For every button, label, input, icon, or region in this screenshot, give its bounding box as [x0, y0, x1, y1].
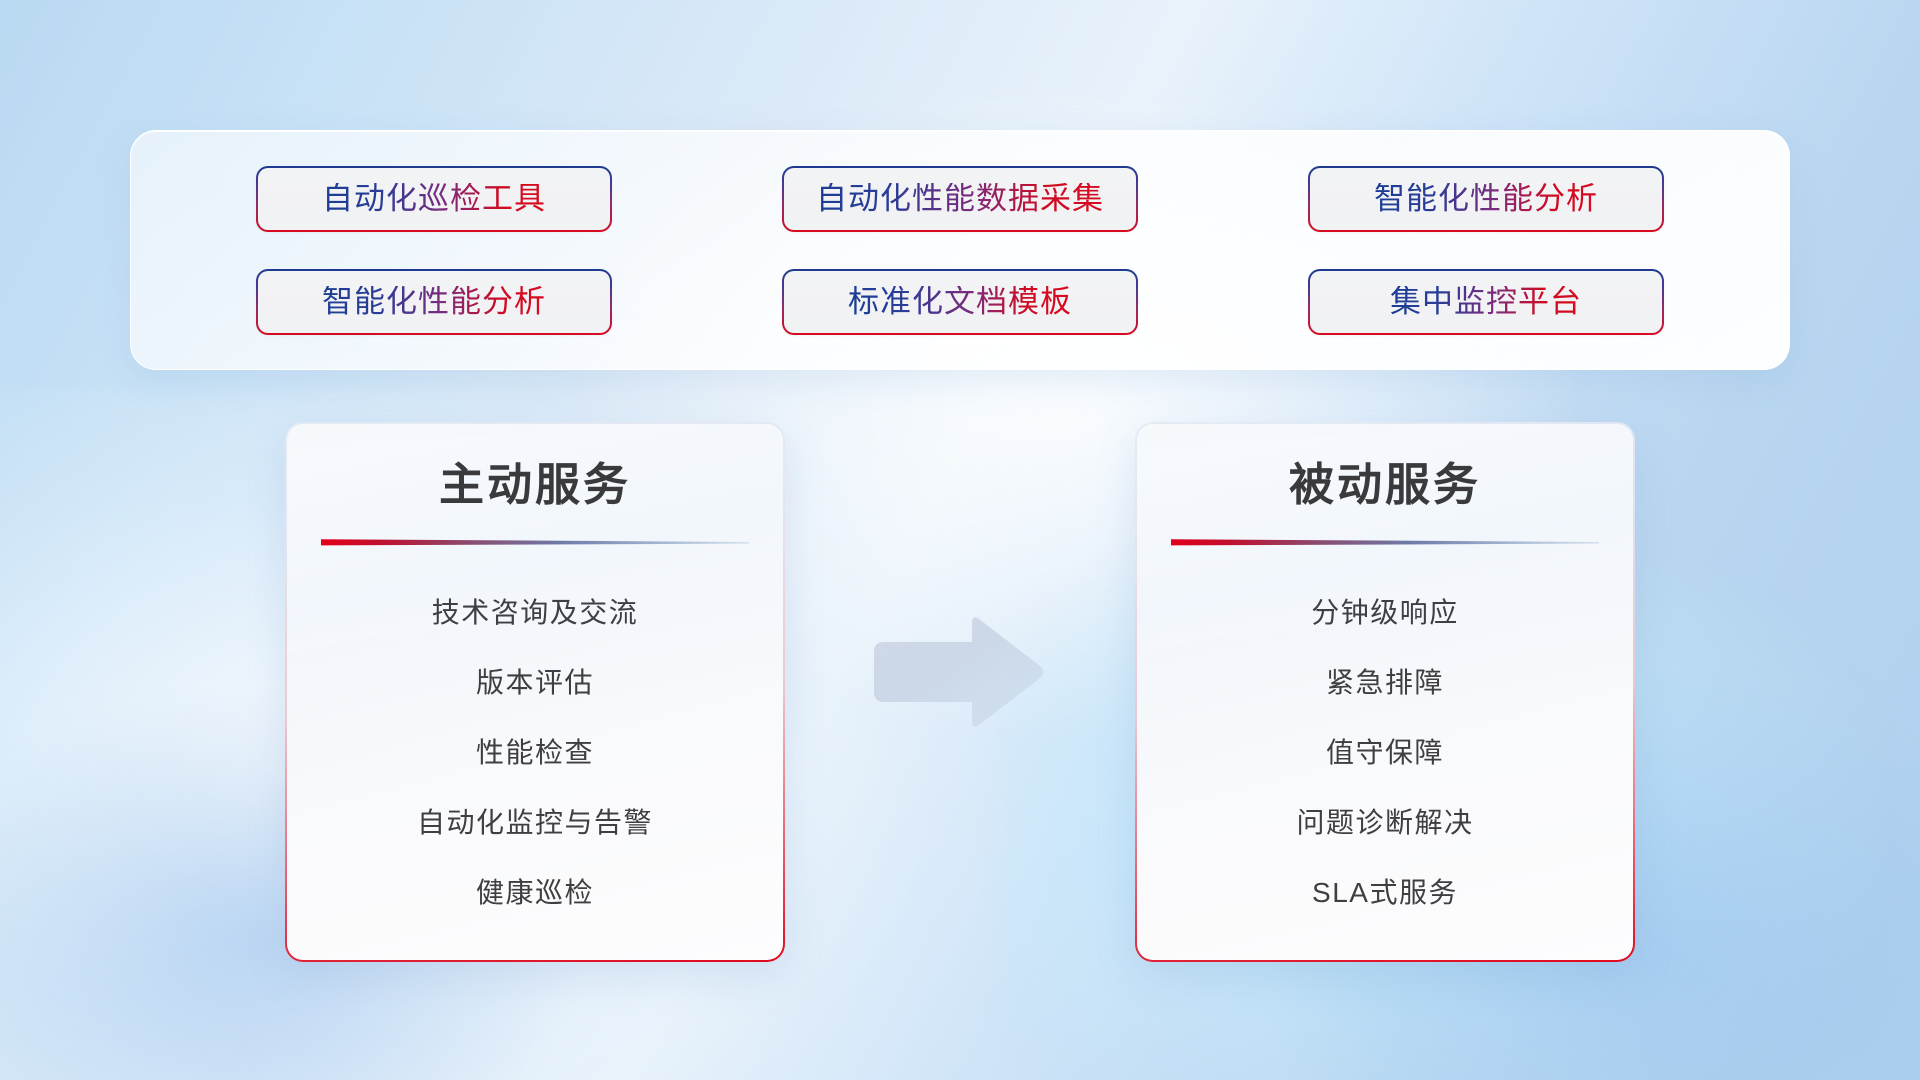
card-title: 被动服务	[1137, 460, 1633, 510]
capability-pill[interactable]: 集中监控平台	[1308, 269, 1664, 335]
capability-pill[interactable]: 自动化巡检工具	[256, 166, 612, 232]
card-list-item: SLA式服务	[1312, 858, 1458, 928]
card-list-item: 分钟级响应	[1311, 578, 1459, 648]
service-card-reactive: 被动服务 分钟级响应 紧急排障 值守保障	[1135, 422, 1635, 962]
capability-panel: 自动化巡检工具 自动化性能数据采集 智能化性能分析 智能化性能分析 标准化文档模…	[130, 130, 1790, 370]
card-item-list: 分钟级响应 紧急排障 值守保障 问题诊断解决 SLA式服务	[1137, 578, 1633, 928]
capability-pill-label: 智能化性能分析	[322, 286, 546, 317]
capability-pill[interactable]: 智能化性能分析	[1308, 166, 1664, 232]
capability-pill[interactable]: 标准化文档模板	[782, 269, 1138, 335]
capability-pill-label: 集中监控平台	[1390, 286, 1582, 317]
card-list-item: 版本评估	[476, 648, 594, 718]
card-title: 主动服务	[287, 460, 783, 510]
capability-pill-label: 智能化性能分析	[1374, 183, 1598, 214]
right-arrow-icon	[868, 612, 1048, 732]
card-list-item: 值守保障	[1326, 718, 1444, 788]
capability-pill-label: 自动化巡检工具	[322, 183, 546, 214]
card-list-item: 健康巡检	[476, 858, 594, 928]
card-list-item: 问题诊断解决	[1296, 788, 1473, 858]
diagram-stage: 自动化巡检工具 自动化性能数据采集 智能化性能分析 智能化性能分析 标准化文档模…	[0, 0, 1920, 1080]
card-divider	[321, 538, 749, 546]
capability-pill-label: 标准化文档模板	[848, 286, 1072, 317]
card-list-item: 紧急排障	[1326, 648, 1444, 718]
card-list-item: 自动化监控与告警	[417, 788, 653, 858]
service-card-proactive: 主动服务 技术咨询及交流 版本评估 性能检查	[285, 422, 785, 962]
capability-pill[interactable]: 自动化性能数据采集	[782, 166, 1138, 232]
capability-pill-grid: 自动化巡检工具 自动化性能数据采集 智能化性能分析 智能化性能分析 标准化文档模…	[131, 131, 1789, 369]
card-list-item: 技术咨询及交流	[432, 578, 639, 648]
capability-pill-label: 自动化性能数据采集	[816, 183, 1104, 214]
capability-pill[interactable]: 智能化性能分析	[256, 269, 612, 335]
card-item-list: 技术咨询及交流 版本评估 性能检查 自动化监控与告警 健康巡检	[287, 578, 783, 928]
card-divider	[1171, 538, 1599, 546]
card-list-item: 性能检查	[476, 718, 594, 788]
